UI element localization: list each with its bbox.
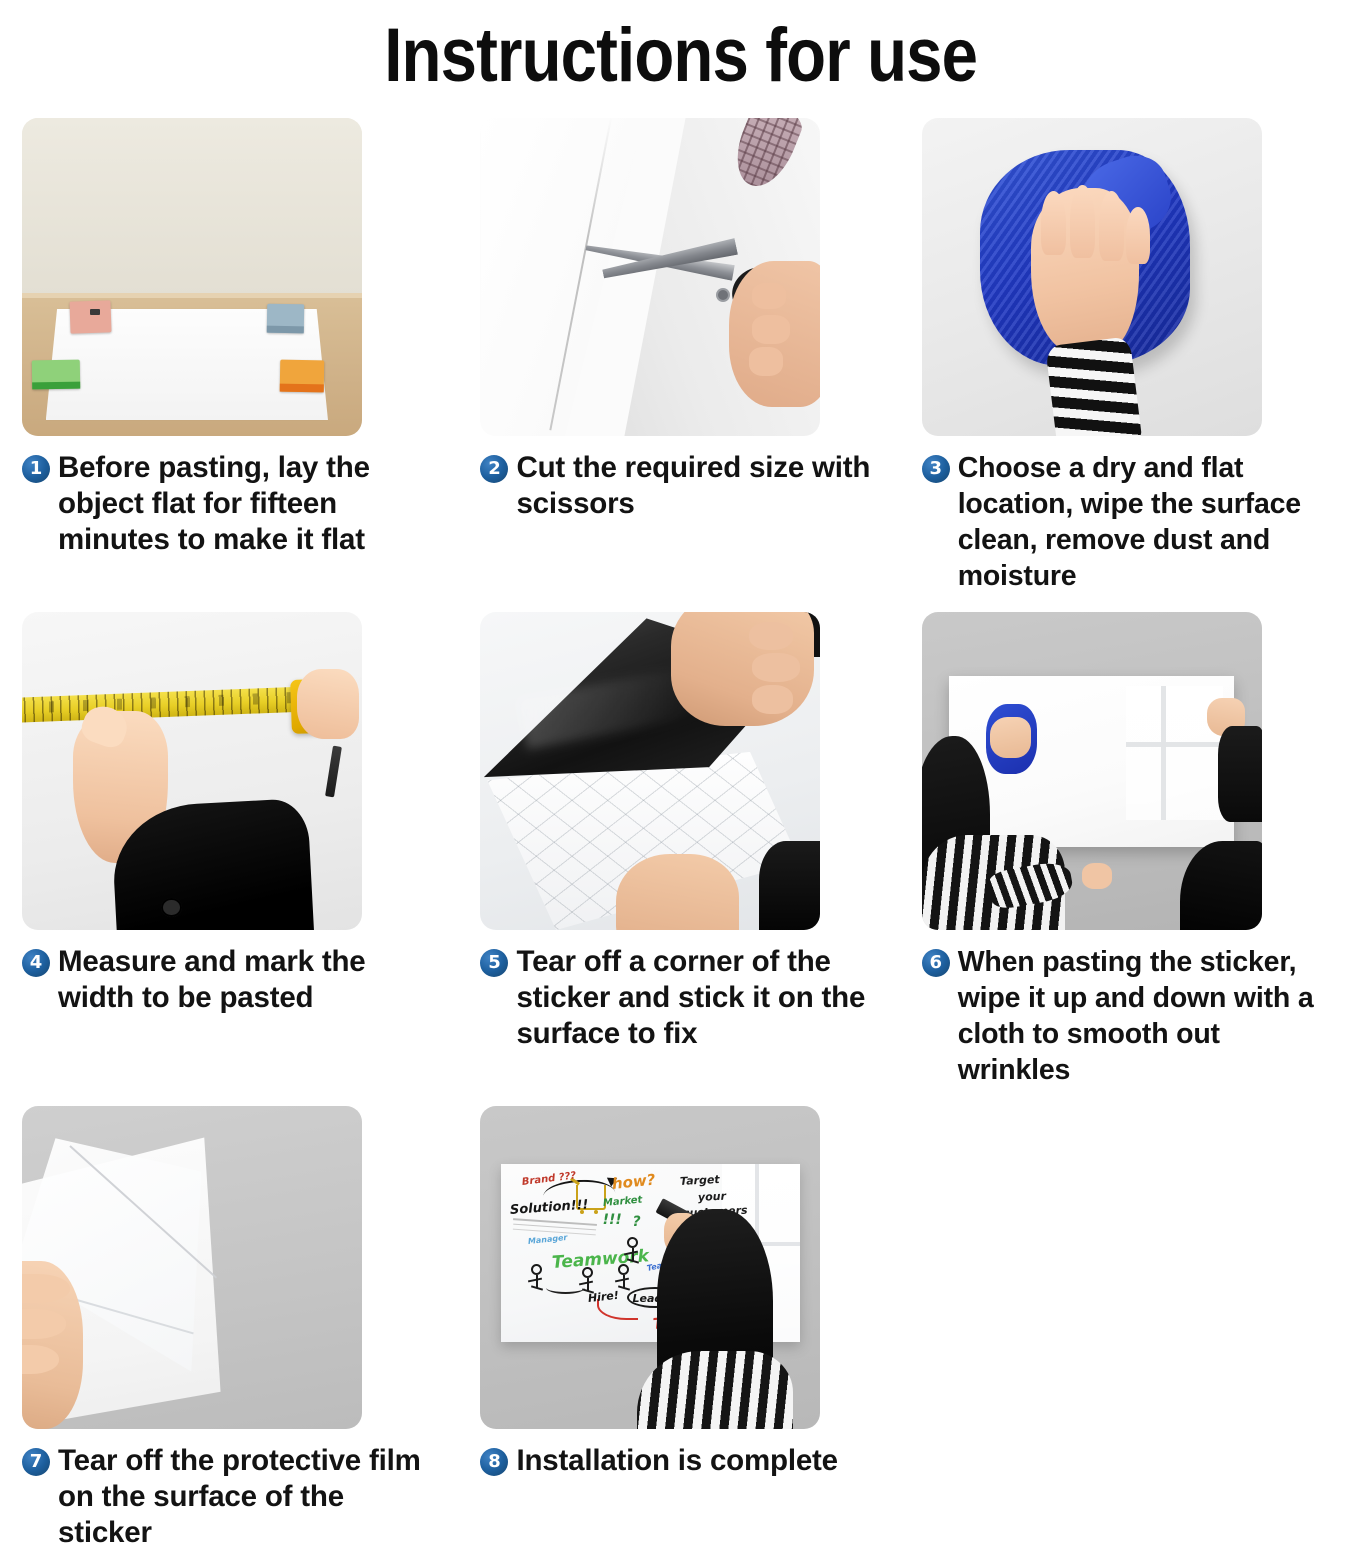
tape-measure-on-wall-photo [22, 612, 362, 930]
left-person-hand [990, 717, 1031, 758]
black-sleeve [759, 841, 820, 930]
step-text-2: Cut the required size with scissors [516, 450, 877, 522]
step-caption-4: 4 Measure and mark the width to be paste… [22, 944, 442, 1016]
peeling-protective-film-photo [22, 1106, 362, 1429]
step-card-3: 3 Choose a dry and flat location, wipe t… [900, 118, 1339, 594]
stick-figure-head [582, 1267, 593, 1278]
step-card-8: Brand ??? Solution!!! how? Market !!! ? … [460, 1106, 899, 1551]
empty-cell [900, 1106, 1339, 1551]
two-people-applying-board-photo [922, 612, 1262, 930]
stick-figure-head [531, 1264, 542, 1275]
steps-row-3: 7 Tear off the protective film on the su… [22, 1106, 1339, 1551]
stick-figure-head [618, 1264, 629, 1275]
pencil [325, 745, 342, 797]
page-title-area: Instructions for use [0, 0, 1361, 118]
step-number-badge-3: 3 [922, 455, 950, 483]
note-manager: Manager [527, 1233, 567, 1246]
note-your: your [698, 1189, 727, 1203]
cuff-button [161, 898, 181, 917]
note-how: how? [611, 1170, 656, 1192]
knuckle [752, 685, 793, 714]
step-number-badge-7: 7 [22, 1448, 50, 1476]
note-target: Target [680, 1173, 720, 1188]
finger [1070, 185, 1096, 258]
step-text-7: Tear off the protective film on the surf… [58, 1443, 438, 1551]
right-person-arm [1218, 726, 1262, 821]
wall-background [22, 118, 362, 296]
finger [1041, 191, 1067, 255]
step-text-8: Installation is complete [516, 1443, 837, 1479]
desk-edge [22, 293, 362, 298]
step-number-badge-5: 5 [480, 949, 508, 977]
lower-hand [616, 854, 738, 930]
step-caption-5: 5 Tear off a corner of the sticker and s… [480, 944, 881, 1052]
stick-figure-head [627, 1237, 638, 1248]
step-card-4: 4 Measure and mark the width to be paste… [22, 612, 460, 1088]
steps-row-2: 4 Measure and mark the width to be paste… [22, 612, 1339, 1088]
small-object [90, 309, 100, 315]
wiping-wall-with-blue-cloth-photo [922, 118, 1262, 436]
orange-notebook [280, 359, 325, 392]
woman-striped-shirt [637, 1351, 793, 1429]
step-caption-1: 1 Before pasting, lay the object flat fo… [22, 450, 442, 558]
finger [1099, 191, 1125, 261]
step-caption-8: 8 Installation is complete [480, 1443, 881, 1479]
stick-figure [582, 1267, 593, 1278]
notebook-strip [32, 381, 80, 389]
step-caption-3: 3 Choose a dry and flat location, wipe t… [922, 450, 1321, 594]
stick-figure [531, 1264, 542, 1275]
step-caption-6: 6 When pasting the sticker, wipe it up a… [922, 944, 1321, 1088]
stick-figure-arms [614, 1277, 628, 1282]
note-market-question: ? [633, 1214, 641, 1230]
step-text-5: Tear off a corner of the sticker and sti… [516, 944, 877, 1052]
green-notebook [32, 359, 80, 388]
step-number-badge-2: 2 [480, 455, 508, 483]
yellow-tape-measure [22, 686, 315, 723]
knuckle [752, 653, 800, 682]
note-solution: Solution!!! [509, 1198, 589, 1218]
knuckle [749, 622, 793, 651]
step-card-2: 2 Cut the required size with scissors [460, 118, 899, 594]
note-market: Market [602, 1194, 642, 1208]
striped-sleeve [1045, 336, 1142, 436]
stick-figure [627, 1237, 638, 1248]
step-card-6: 6 When pasting the sticker, wipe it up a… [900, 612, 1339, 1088]
finished-whiteboard-photo: Brand ??? Solution!!! how? Market !!! ? … [480, 1106, 820, 1429]
right-person-body [1180, 841, 1262, 930]
step-number-badge-6: 6 [922, 949, 950, 977]
note-market-marks: !!! [603, 1212, 622, 1228]
step-number-badge-8: 8 [480, 1448, 508, 1476]
steps-grid: 1 Before pasting, lay the object flat fo… [0, 118, 1361, 1551]
finger [1126, 207, 1150, 264]
step-card-5: 5 Tear off a corner of the sticker and s… [460, 612, 899, 1088]
left-person-lower-hand [1082, 863, 1113, 888]
pink-notebook [69, 300, 111, 333]
sheet-flat-on-desk-photo [22, 118, 362, 436]
stick-figure-body [536, 1275, 538, 1288]
notebook-strip [267, 325, 305, 333]
peeling-sticker-corner-photo [480, 612, 820, 930]
step-text-3: Choose a dry and flat location, wipe the… [958, 450, 1317, 594]
steps-row-1: 1 Before pasting, lay the object flat fo… [22, 118, 1339, 594]
blue-notebook [267, 304, 305, 333]
finger [752, 315, 789, 344]
step-text-6: When pasting the sticker, wipe it up and… [958, 944, 1317, 1088]
stick-figure [618, 1264, 629, 1275]
step-card-7: 7 Tear off the protective film on the su… [22, 1106, 460, 1551]
step-text-4: Measure and mark the width to be pasted [58, 944, 438, 1016]
step-caption-2: 2 Cut the required size with scissors [480, 450, 881, 522]
step-card-1: 1 Before pasting, lay the object flat fo… [22, 118, 460, 594]
page-title: Instructions for use [384, 6, 977, 106]
notebook-strip [280, 383, 324, 391]
stick-figure-arms [528, 1277, 542, 1282]
step-number-badge-1: 1 [22, 455, 50, 483]
cutting-with-scissors-photo [480, 118, 820, 436]
step-text-1: Before pasting, lay the object flat for … [58, 450, 438, 558]
step-caption-7: 7 Tear off the protective film on the su… [22, 1443, 442, 1551]
instructions-page: Instructions for use 1 [0, 0, 1361, 1449]
right-hand [297, 669, 358, 739]
underline-strokes [513, 1218, 597, 1226]
finger [752, 283, 786, 308]
finger [749, 347, 783, 376]
step-number-badge-4: 4 [22, 949, 50, 977]
